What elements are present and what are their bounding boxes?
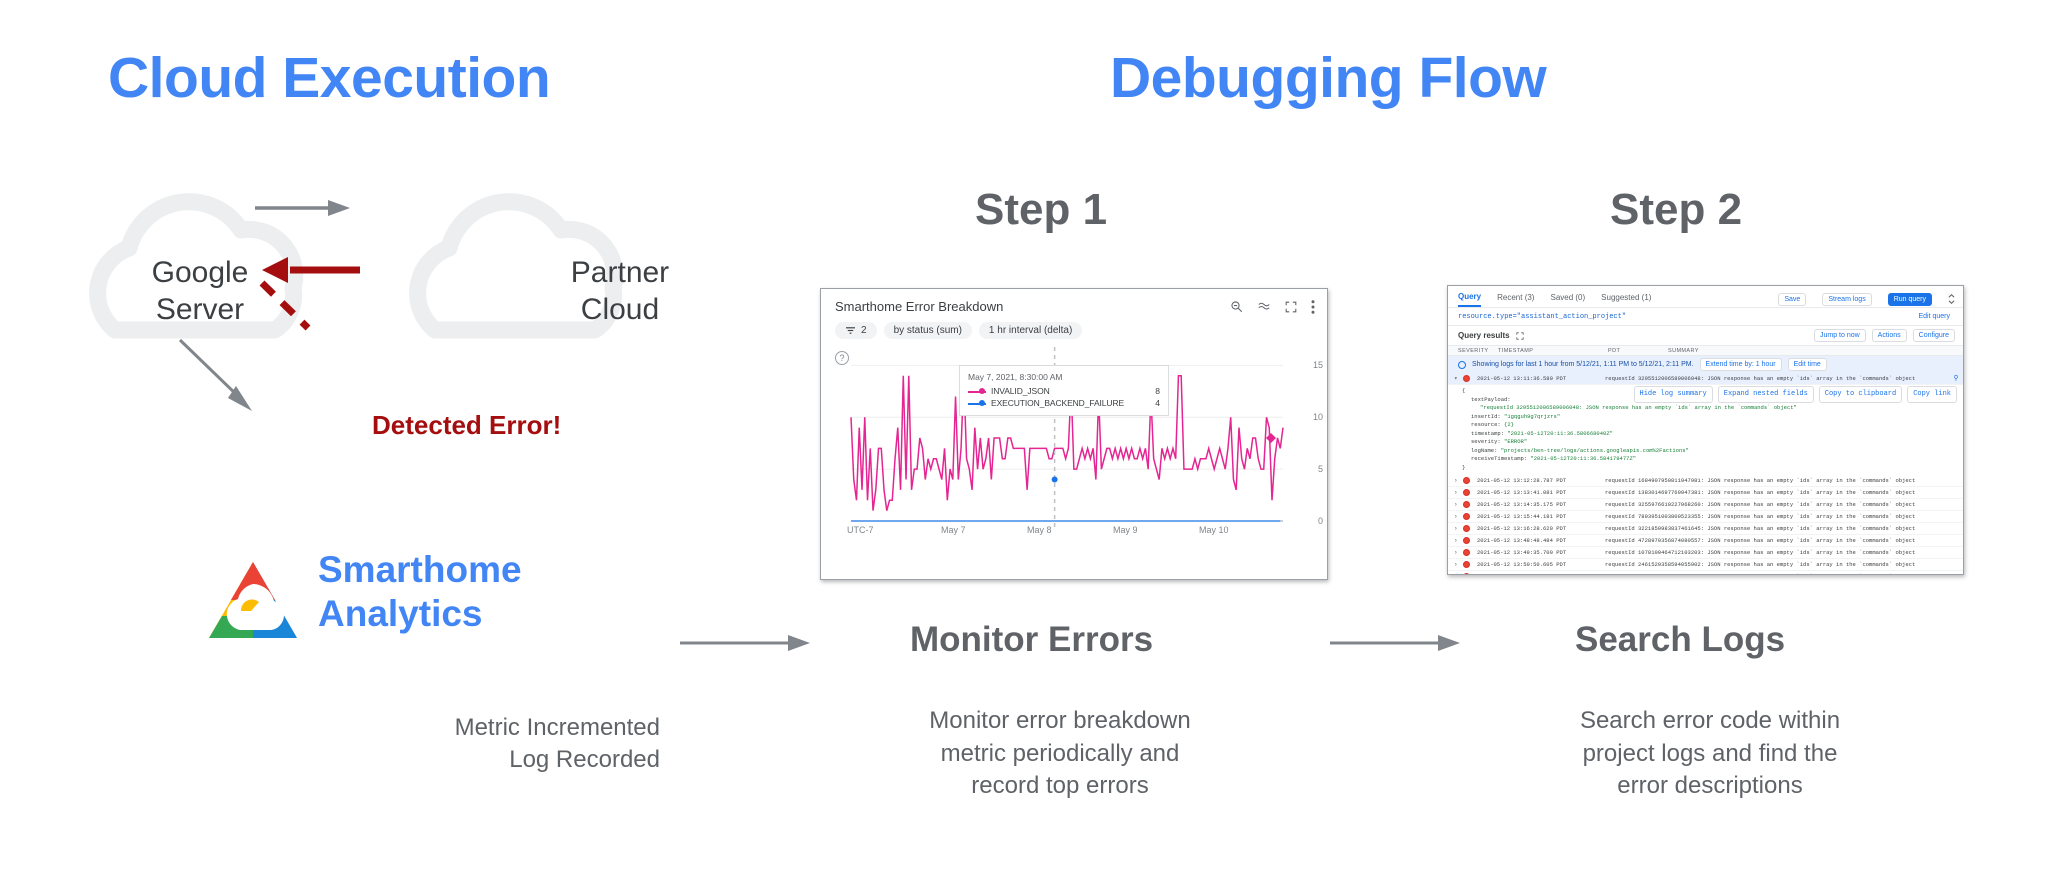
hide-log-summary-button[interactable]: Hide log summary: [1634, 386, 1713, 403]
log-summary: requestId 7893951003800523355: JSON resp…: [1605, 513, 1963, 520]
column-severity: SEVERITY: [1458, 348, 1498, 354]
severity-error-icon: [1463, 501, 1477, 508]
expand-collapse-icon[interactable]: [1948, 293, 1955, 307]
y-axis-tick: 0: [1318, 516, 1323, 526]
y-axis-tick: 15: [1313, 360, 1323, 370]
column-timezone[interactable]: PDT: [1608, 348, 1668, 354]
chart-line-icon[interactable]: [1257, 300, 1271, 313]
json-value: "2021-05-12T20:11:36.584179477Z": [1530, 455, 1636, 462]
log-summary: requestId 1018522076481607396: JSON resp…: [1605, 573, 1963, 575]
save-button[interactable]: Save: [1778, 293, 1806, 306]
analytics-flow-arrow-icon: [180, 340, 252, 411]
smarthome-analytics-caption: Metric Incremented Log Recorded: [330, 712, 660, 777]
log-row[interactable]: ›2021-05-12 13:14:35.175 PDTrequestId 32…: [1448, 499, 1963, 511]
expand-caret-icon[interactable]: ▾: [1454, 375, 1463, 382]
query-text[interactable]: resource.type="assistant_action_project": [1458, 313, 1913, 321]
json-key: logName:: [1471, 447, 1501, 454]
zoom-search-icon[interactable]: [1230, 300, 1243, 313]
tooltip-timestamp: May 7, 2021, 8:30:00 AM: [968, 372, 1160, 382]
log-timestamp: 2021-05-12 13:48:48.484 PDT: [1477, 537, 1605, 544]
flow-arrow-2-icon: [1330, 628, 1470, 658]
log-row[interactable]: ›2021-05-12 13:13:41.081 PDTrequestId 13…: [1448, 487, 1963, 499]
jump-to-now-button[interactable]: Jump to now: [1814, 329, 1866, 342]
tooltip-series-name: EXECUTION_BACKEND_FAILURE: [991, 398, 1150, 408]
tooltip-series-value: 4: [1155, 398, 1160, 408]
expand-caret-icon[interactable]: ›: [1454, 477, 1463, 484]
log-row[interactable]: ›2021-05-12 13:15:44.181 PDTrequestId 78…: [1448, 511, 1963, 523]
flow-arrow-1-icon: [680, 628, 820, 658]
x-axis-tick: May 10: [1199, 525, 1229, 535]
tab-saved[interactable]: Saved (0): [1550, 293, 1585, 306]
edit-time-button[interactable]: Edit time: [1788, 358, 1827, 371]
json-key: timestamp:: [1471, 430, 1507, 437]
severity-error-icon: [1463, 537, 1477, 544]
json-key: severity:: [1471, 438, 1504, 445]
fullscreen-icon[interactable]: [1516, 327, 1524, 345]
monitor-errors-heading: Monitor Errors: [910, 620, 1153, 660]
chip-aggregation[interactable]: by status (sum): [884, 322, 972, 339]
json-line: receiveTimestamp: "2021-05-12T20:11:36.5…: [1462, 455, 1963, 464]
google-server-label: Google Server: [80, 255, 320, 328]
error-breakdown-chart-panel[interactable]: Smarthome Error Breakdown: [820, 288, 1328, 580]
log-row[interactable]: ›2021-05-12 13:51:42.530 PDTrequestId 10…: [1448, 571, 1963, 575]
chart-filter-chips[interactable]: 2 by status (sum) 1 hr interval (delta): [821, 314, 1327, 343]
log-rows-list[interactable]: ›2021-05-12 13:12:28.787 PDTrequestId 16…: [1448, 475, 1963, 575]
x-axis-tick: May 7: [941, 525, 966, 535]
log-summary: requestId 3221859983837461645: JSON resp…: [1605, 525, 1963, 532]
legend-swatch-blue: [968, 399, 986, 407]
log-row[interactable]: ›2021-05-12 13:49:35.700 PDTrequestId 10…: [1448, 547, 1963, 559]
log-row[interactable]: ›2021-05-12 13:12:28.787 PDTrequestId 16…: [1448, 475, 1963, 487]
banner-text: Showing logs for last 1 hour from 5/12/2…: [1472, 361, 1694, 368]
log-json-detail: Hide log summary Expand nested fields Co…: [1448, 385, 1963, 475]
log-timestamp: 2021-05-12 13:50:50.605 PDT: [1477, 561, 1605, 568]
slide-canvas: Cloud Execution Debugging Flow Step 1 St…: [0, 0, 2048, 885]
x-axis-timezone: UTC-7: [847, 525, 874, 535]
y-axis-tick: 5: [1318, 464, 1323, 474]
column-timestamp: TIMESTAMP: [1498, 348, 1608, 354]
cloud-diagram: [40, 180, 740, 510]
pin-icon[interactable]: ⚲: [1949, 374, 1963, 383]
stream-logs-button[interactable]: Stream logs: [1822, 293, 1871, 306]
severity-error-icon: [1463, 549, 1477, 556]
json-line: logName: "projects/ben-tree/logs/actions…: [1462, 447, 1963, 456]
log-timestamp: 2021-05-12 13:11:36.580 PDT: [1477, 375, 1605, 382]
query-results-header: Query results Jump to now Actions Config…: [1448, 326, 1963, 345]
configure-dropdown[interactable]: Configure: [1913, 329, 1955, 342]
severity-error-icon: [1463, 513, 1477, 520]
json-key: {: [1462, 387, 1465, 394]
actions-dropdown[interactable]: Actions: [1872, 329, 1907, 342]
fullscreen-icon[interactable]: [1285, 301, 1297, 313]
query-results-label: Query results: [1458, 331, 1510, 340]
json-line: resource: {2}: [1462, 421, 1963, 430]
json-line: }: [1462, 464, 1963, 473]
severity-error-icon: [1463, 477, 1477, 484]
copy-link-button[interactable]: Copy link: [1907, 386, 1957, 403]
monitor-errors-caption: Monitor error breakdown metric periodica…: [880, 705, 1240, 803]
help-icon[interactable]: ?: [835, 351, 849, 365]
google-cloud-logo-icon: [200, 558, 306, 658]
log-row[interactable]: ›2021-05-12 13:48:48.484 PDTrequestId 47…: [1448, 535, 1963, 547]
severity-error-icon: [1463, 561, 1477, 568]
log-row-selected[interactable]: ▾ 2021-05-12 13:11:36.580 PDT requestId …: [1448, 373, 1963, 385]
chart-plot-area[interactable]: ? May 7, 2021, 8:30:00 AM INVALID_JSON 8…: [821, 343, 1327, 555]
chip-filter-label: 2: [861, 325, 867, 336]
log-timestamp: 2021-05-12 13:49:35.700 PDT: [1477, 549, 1605, 556]
chart-tooltip: May 7, 2021, 8:30:00 AM INVALID_JSON 8 E…: [959, 365, 1169, 416]
expand-caret-icon[interactable]: ›: [1454, 489, 1463, 496]
run-query-button[interactable]: Run query: [1888, 293, 1932, 306]
smarthome-analytics-title: Smarthome Analytics: [318, 548, 522, 637]
chip-filter-count[interactable]: 2: [835, 322, 877, 339]
severity-error-icon: [1463, 525, 1477, 532]
expand-caret-icon[interactable]: ›: [1454, 549, 1463, 556]
json-value: "ERROR": [1504, 438, 1527, 445]
logs-tab-bar[interactable]: Query Recent (3) Saved (0) Suggested (1)…: [1448, 286, 1963, 308]
chart-title: Smarthome Error Breakdown: [835, 299, 1230, 314]
json-line: severity: "ERROR": [1462, 438, 1963, 447]
step-2-title: Step 2: [1610, 185, 1742, 235]
chip-interval-label: 1 hr interval (delta): [989, 325, 1072, 336]
log-summary: requestId 1684907950811947981: JSON resp…: [1605, 477, 1963, 484]
json-line: "requestId 3295512006589006048: JSON res…: [1462, 404, 1963, 413]
tooltip-series-name: INVALID_JSON: [991, 386, 1150, 396]
chart-header: Smarthome Error Breakdown: [821, 289, 1327, 314]
log-summary: requestId 3295512006589006048: JSON resp…: [1605, 375, 1949, 382]
severity-error-icon: [1463, 573, 1477, 575]
expand-caret-icon[interactable]: ›: [1454, 513, 1463, 520]
expand-caret-icon[interactable]: ›: [1454, 573, 1463, 575]
log-summary: requestId 3255976619227068260: JSON resp…: [1605, 501, 1963, 508]
filter-icon: [845, 326, 856, 335]
search-logs-caption: Search error code within project logs an…: [1530, 705, 1890, 803]
expand-caret-icon[interactable]: ›: [1454, 537, 1463, 544]
log-summary: requestId 2461529358594055902: JSON resp…: [1605, 561, 1963, 568]
extend-time-button[interactable]: Extend time by: 1 hour: [1700, 358, 1782, 371]
log-summary: requestId 4728970356874080557: JSON resp…: [1605, 537, 1963, 544]
log-timestamp: 2021-05-12 13:51:42.530 PDT: [1477, 573, 1605, 575]
tooltip-series-value: 8: [1155, 386, 1160, 396]
query-editor-row[interactable]: resource.type="assistant_action_project"…: [1448, 308, 1963, 326]
detected-error-label: Detected Error!: [372, 410, 561, 441]
json-value: {2}: [1504, 421, 1514, 428]
json-key: insertId:: [1471, 413, 1504, 420]
tab-suggested[interactable]: Suggested (1): [1601, 293, 1651, 306]
chip-aggregation-label: by status (sum): [894, 325, 962, 336]
log-timestamp: 2021-05-12 13:16:28.620 PDT: [1477, 525, 1605, 532]
info-circle-icon: [1458, 361, 1466, 369]
json-key: receiveTimestamp:: [1471, 455, 1530, 462]
log-row[interactable]: ›2021-05-12 13:16:28.620 PDTrequestId 32…: [1448, 523, 1963, 535]
log-summary: requestId 1383014697769947381: JSON resp…: [1605, 489, 1963, 496]
json-key: }: [1462, 464, 1465, 471]
json-line: insertId: "1gqguh9g7qrjzrs": [1462, 413, 1963, 422]
expand-caret-icon[interactable]: ›: [1454, 525, 1463, 532]
edit-query-button[interactable]: Edit query: [1913, 311, 1955, 322]
step-1-title: Step 1: [975, 185, 1107, 235]
json-line: timestamp: "2021-05-12T20:11:36.58066804…: [1462, 430, 1963, 439]
search-logs-heading: Search Logs: [1575, 620, 1785, 660]
tooltip-row-execution-backend-failure: EXECUTION_BACKEND_FAILURE 4: [968, 398, 1160, 408]
page-title-cloud-execution: Cloud Execution: [108, 45, 550, 111]
log-summary: requestId 1078109464712103203: JSON resp…: [1605, 549, 1963, 556]
severity-error-icon: [1463, 489, 1477, 496]
chip-interval[interactable]: 1 hr interval (delta): [979, 322, 1082, 339]
page-title-debugging-flow: Debugging Flow: [1110, 45, 1546, 111]
logs-explorer-panel[interactable]: Query Recent (3) Saved (0) Suggested (1)…: [1447, 285, 1964, 575]
log-row[interactable]: ›2021-05-12 13:50:50.605 PDTrequestId 24…: [1448, 559, 1963, 571]
tab-query[interactable]: Query: [1458, 292, 1481, 307]
json-value: "1gqguh9g7qrjzrs": [1504, 413, 1560, 420]
log-timestamp: 2021-05-12 13:14:35.175 PDT: [1477, 501, 1605, 508]
json-value: "requestId 3295512006589006048: JSON res…: [1480, 404, 1797, 411]
log-timestamp: 2021-05-12 13:15:44.181 PDT: [1477, 513, 1605, 520]
expand-nested-fields-button[interactable]: Expand nested fields: [1718, 386, 1814, 403]
copy-to-clipboard-button[interactable]: Copy to clipboard: [1819, 386, 1902, 403]
time-range-banner: Showing logs for last 1 hour from 5/12/2…: [1448, 356, 1963, 373]
legend-swatch-pink: [968, 387, 986, 395]
tab-recent[interactable]: Recent (3): [1497, 293, 1534, 306]
x-axis-tick: May 8: [1027, 525, 1052, 535]
json-value: "2021-05-12T20:11:36.580668040Z": [1507, 430, 1613, 437]
request-arrow-icon: [255, 200, 350, 216]
json-value: "projects/ben-tree/logs/actions.googleap…: [1501, 447, 1689, 454]
expand-caret-icon[interactable]: ›: [1454, 501, 1463, 508]
more-vert-icon[interactable]: [1311, 300, 1315, 314]
x-axis-tick: May 9: [1113, 525, 1138, 535]
severity-error-icon: [1463, 375, 1477, 382]
partner-cloud-label: Partner Cloud: [510, 255, 730, 328]
json-key: textPayload:: [1471, 396, 1511, 403]
json-action-buttons[interactable]: Hide log summary Expand nested fields Co…: [1634, 386, 1957, 403]
json-key: resource:: [1471, 421, 1504, 428]
y-axis-tick: 10: [1313, 412, 1323, 422]
chart-toolbar[interactable]: [1230, 300, 1315, 314]
log-timestamp: 2021-05-12 13:12:28.787 PDT: [1477, 477, 1605, 484]
column-summary: SUMMARY: [1668, 348, 1699, 354]
log-timestamp: 2021-05-12 13:13:41.081 PDT: [1477, 489, 1605, 496]
expand-caret-icon[interactable]: ›: [1454, 561, 1463, 568]
log-table-column-headers: SEVERITY TIMESTAMP PDT SUMMARY: [1448, 345, 1963, 356]
tooltip-row-invalid-json: INVALID_JSON 8: [968, 386, 1160, 396]
